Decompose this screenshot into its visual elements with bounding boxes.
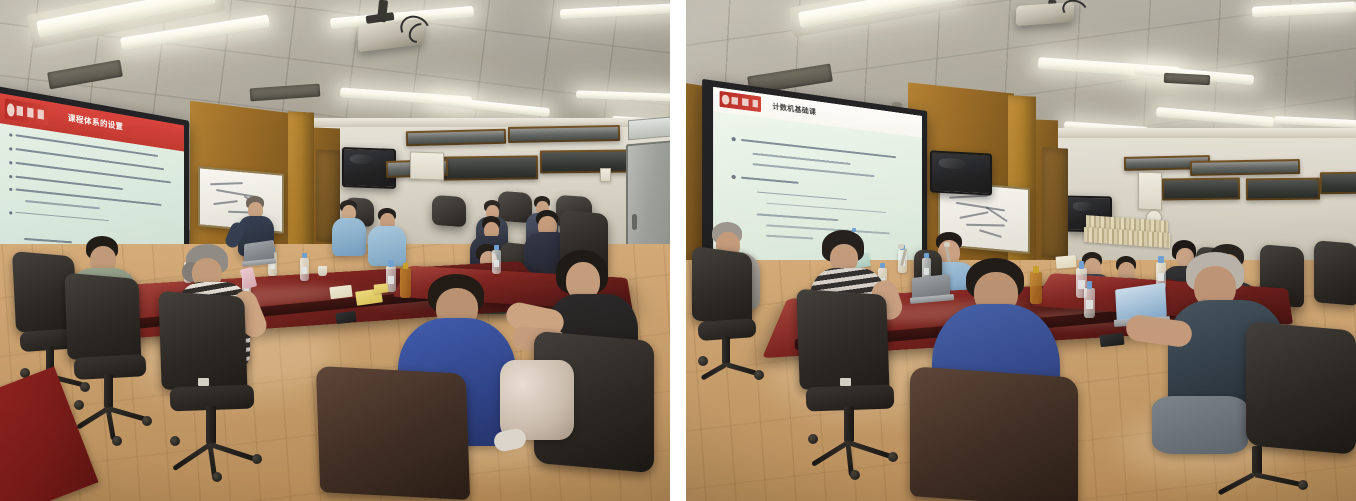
- framed-panorama-photo: [1162, 177, 1240, 200]
- photo-pair-sheet: 课程体系的设置: [0, 0, 1356, 501]
- logo-wordmark: [731, 97, 758, 107]
- logo-mark-icon: [7, 102, 14, 116]
- framed-panorama-photo: [508, 125, 620, 143]
- meeting-photo-left: 课程体系的设置: [0, 0, 670, 501]
- door-handle[interactable]: [632, 214, 637, 230]
- smartphone-on-table: [1099, 333, 1124, 347]
- framed-panorama-photo: [1320, 172, 1356, 194]
- water-bottle: [300, 258, 309, 281]
- projection-screen: 计数机基础课: [713, 87, 922, 272]
- meeting-photo-right: 计数机基础课: [686, 0, 1356, 501]
- wall-tv-monitor: [930, 150, 992, 195]
- door-transom-window: [628, 116, 670, 141]
- framed-panorama-photo: [406, 129, 506, 147]
- wall-switch-plate: [600, 168, 611, 182]
- microphone: [944, 242, 950, 247]
- water-bottle: [1084, 288, 1095, 318]
- framed-panorama-photo: [1246, 178, 1320, 201]
- iced-tea-bottle: [400, 268, 411, 298]
- framed-panorama-photo: [1190, 159, 1300, 176]
- water-bottle: [492, 250, 501, 274]
- logo-mark-icon: [722, 94, 729, 105]
- framed-panorama-photo: [540, 150, 632, 174]
- paper-cup: [318, 266, 327, 276]
- wall-pillar: [288, 111, 314, 258]
- wall-cabinet: [1042, 147, 1068, 258]
- microphone: [898, 244, 904, 249]
- sticky-note: [374, 283, 389, 293]
- wall-plaque: [410, 151, 444, 180]
- logo-wordmark: [16, 106, 44, 120]
- wall-plaque: [1138, 172, 1162, 211]
- wall-cornice: [1042, 128, 1356, 138]
- iced-tea-bottle: [1030, 272, 1042, 304]
- framed-panorama-photo: [442, 155, 538, 180]
- document-paper: [1056, 255, 1077, 269]
